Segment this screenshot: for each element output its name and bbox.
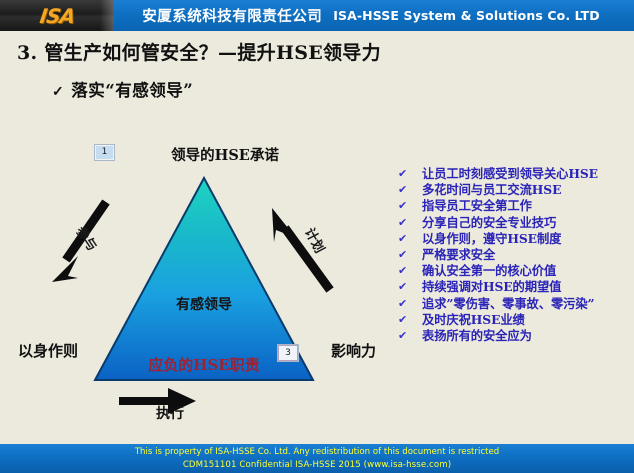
slide-canvas: ISA 安厦系统科技有限责任公司 ISA-HSSE System & Solut…	[0, 0, 634, 473]
footer-line-2: CDM151101 Confidential ISA-HSSE 2015 (ww…	[183, 459, 451, 472]
header-title-bar: 安厦系统科技有限责任公司 ISA-HSSE System & Solutions…	[114, 0, 634, 31]
slide-header: ISA 安厦系统科技有限责任公司 ISA-HSSE System & Solut…	[0, 0, 634, 31]
slide-footer: This is property of ISA-HSSE Co. Ltd. An…	[0, 444, 634, 473]
list-item: ✔表扬所有的安全应为	[398, 328, 632, 343]
check-icon: ✔	[398, 296, 422, 311]
check-icon: ✔	[398, 182, 422, 197]
slide-subtitle-text: 落实“有感领导”	[71, 81, 193, 100]
list-item-label: 持续强调对HSE的期望值	[422, 279, 561, 294]
check-icon: ✔	[398, 166, 422, 181]
slide-title: 3. 管生产如何管安全？—提升HSE领导力	[17, 38, 381, 65]
diagram-arrows	[0, 132, 400, 432]
list-item: ✔持续强调对HSE的期望值	[398, 279, 632, 294]
check-icon: ✔	[398, 247, 422, 262]
list-item: ✔让员工时刻感受到领导关心HSE	[398, 166, 632, 181]
slide-subtitle: ✓落实“有感领导”	[52, 77, 193, 101]
list-item-label: 指导员工安全第工作	[422, 198, 532, 213]
check-icon: ✔	[398, 263, 422, 278]
check-icon: ✔	[398, 198, 422, 213]
list-item-label: 以身作则，遵守HSE制度	[422, 231, 561, 246]
list-item-label: 严格要求安全	[422, 247, 495, 262]
list-item: ✔及时庆祝HSE业绩	[398, 312, 632, 327]
check-icon: ✔	[398, 312, 422, 327]
list-item: ✔多花时间与员工交流HSE	[398, 182, 632, 197]
side-right-label: 影响力	[331, 340, 376, 361]
footer-line-1: This is property of ISA-HSSE Co. Ltd. An…	[135, 446, 499, 459]
isa-logo: ISA	[0, 0, 114, 31]
pyramid-diagram: 1 领导的HSE承诺 有感领导 应负的HSE职责 3	[0, 132, 400, 432]
company-name-cn: 安厦系统科技有限责任公司	[142, 5, 322, 26]
list-item: ✔分享自己的安全专业技巧	[398, 215, 632, 230]
check-icon: ✔	[398, 328, 422, 343]
check-icon: ✔	[398, 279, 422, 294]
list-item-label: 追求”零伤害、零事故、零污染”	[422, 296, 595, 311]
bullet-list: ✔让员工时刻感受到领导关心HSE✔多花时间与员工交流HSE✔指导员工安全第工作✔…	[398, 166, 632, 344]
list-item: ✔指导员工安全第工作	[398, 198, 632, 213]
check-icon: ✔	[398, 231, 422, 246]
bottom-label: 执行	[156, 403, 184, 423]
list-item: ✔严格要求安全	[398, 247, 632, 262]
check-icon: ✓	[52, 84, 64, 100]
side-left-label: 以身作则	[18, 340, 78, 361]
check-icon: ✔	[398, 215, 422, 230]
list-item-label: 确认安全第一的核心价值	[422, 263, 556, 278]
company-name-en: ISA-HSSE System & Solutions Co. LTD	[333, 8, 599, 23]
list-item-label: 多花时间与员工交流HSE	[422, 182, 561, 197]
list-item-label: 分享自己的安全专业技巧	[422, 215, 556, 230]
list-item: ✔追求”零伤害、零事故、零污染”	[398, 296, 632, 311]
list-item-label: 及时庆祝HSE业绩	[422, 312, 525, 327]
list-item-label: 让员工时刻感受到领导关心HSE	[422, 166, 598, 181]
list-item: ✔确认安全第一的核心价值	[398, 263, 632, 278]
list-item: ✔以身作则，遵守HSE制度	[398, 231, 632, 246]
list-item-label: 表扬所有的安全应为	[422, 328, 532, 343]
isa-logo-text: ISA	[38, 4, 76, 28]
